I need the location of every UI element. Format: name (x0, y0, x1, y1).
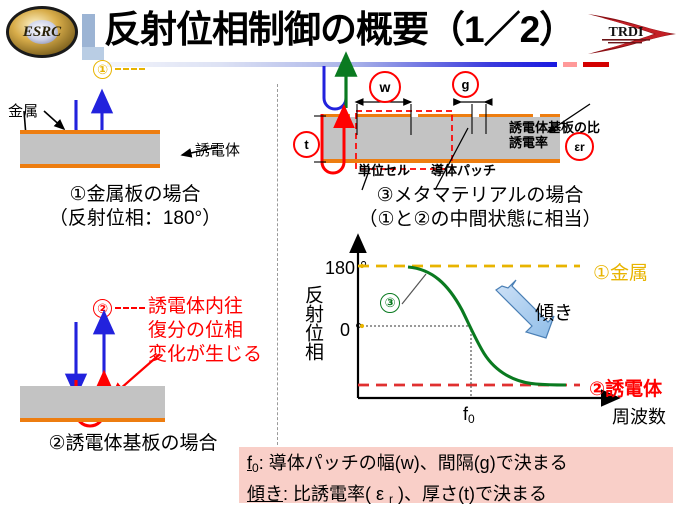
marker-two-left: ② (93, 299, 112, 318)
footer-summary-box: f0: 導体パッチの幅(w)、間隔(g)で決まる 傾き: 比誘電率( ε r )… (239, 447, 673, 503)
fig-metal-caption-1: ①金属板の場合 (10, 183, 260, 207)
chart-y-axis-label: 反射位相 (299, 285, 326, 361)
dim-label-g: g (452, 71, 479, 98)
footer-line-1-text: : 導体パッチの幅(w)、間隔(g)で決まる (259, 453, 568, 473)
chart-curve-leader (402, 274, 426, 304)
esrc-logo-text: ESRC (22, 24, 62, 40)
label-unit-cell: 単位セル (358, 163, 410, 178)
dim-label-t: t (293, 131, 320, 158)
metal-bottom-plate (20, 164, 160, 168)
title-accent-bar (82, 14, 104, 60)
footer-line-2-key: 傾き (247, 484, 283, 504)
trdi-logo: TRDI (586, 8, 678, 60)
red-u-arrow-meta (322, 114, 344, 173)
footer-line-1-key: f0 (247, 453, 259, 473)
label-permittivity-2: 誘電率 (509, 135, 600, 150)
marker-two-dashes (115, 307, 145, 309)
unit-cell-box (356, 111, 452, 169)
fig-metal-caption-2: （反射位相：180°） (10, 207, 260, 231)
dim-label-w: w (369, 71, 401, 103)
fig-dielectric-caption: ②誘電体基板の場合 (8, 432, 258, 456)
trdi-logo-text: TRDI (608, 25, 643, 40)
label-conductor-patch: 導体パッチ (431, 163, 496, 178)
chart-curve-marker: ③ (380, 293, 400, 313)
esrc-logo: ESRC (4, 4, 80, 60)
metal-leader-arrow-1 (44, 111, 64, 129)
footer-line-1: f0: 導体パッチの幅(w)、間隔(g)で決まる (247, 450, 665, 481)
note-line-1: 誘電体内往 (148, 295, 278, 319)
slide-root: ESRC 反射位相制御の概要（1／2） TRDI ① ② 金属 (0, 0, 681, 511)
chart-x-axis-label: 周波数 (612, 403, 666, 429)
chart-legend-dielectric: ②誘電体 (589, 374, 662, 401)
fig-meta-caption-1: ③メタマテリアルの場合 (290, 184, 670, 208)
fig-meta-caption-2: （①と②の中間状態に相当） (290, 208, 670, 232)
chart-xtick-f0-sub: 0 (468, 412, 475, 426)
marker-one-dashes (115, 68, 145, 70)
marker-one-top: ① (93, 60, 112, 79)
footer-line-2-a: : 比誘電率( ε (283, 484, 389, 504)
label-dielectric: 誘電体 (195, 139, 240, 160)
label-permittivity-1: 誘電体基板の比 (509, 120, 600, 135)
dielectric-slab (20, 134, 160, 164)
chart-180-tick-dot (360, 264, 364, 268)
chart-zero-tick-dot (360, 324, 364, 328)
footer-line-2-c: )、厚さ(t)で決まる (393, 484, 547, 504)
footer-f-subscript: 0 (252, 461, 259, 475)
slope-label: 傾き (535, 298, 573, 325)
dielectric-slab-2 (20, 386, 165, 418)
footer-line-2: 傾き: 比誘電率( ε r )、厚さ(t)で決まる (247, 481, 665, 512)
chart-legend-metal: ①金属 (593, 258, 648, 285)
page-title: 反射位相制御の概要（1／2） (104, 2, 574, 57)
ground-plane-2 (20, 418, 165, 422)
chart-xtick-f0: f0 (463, 404, 475, 426)
